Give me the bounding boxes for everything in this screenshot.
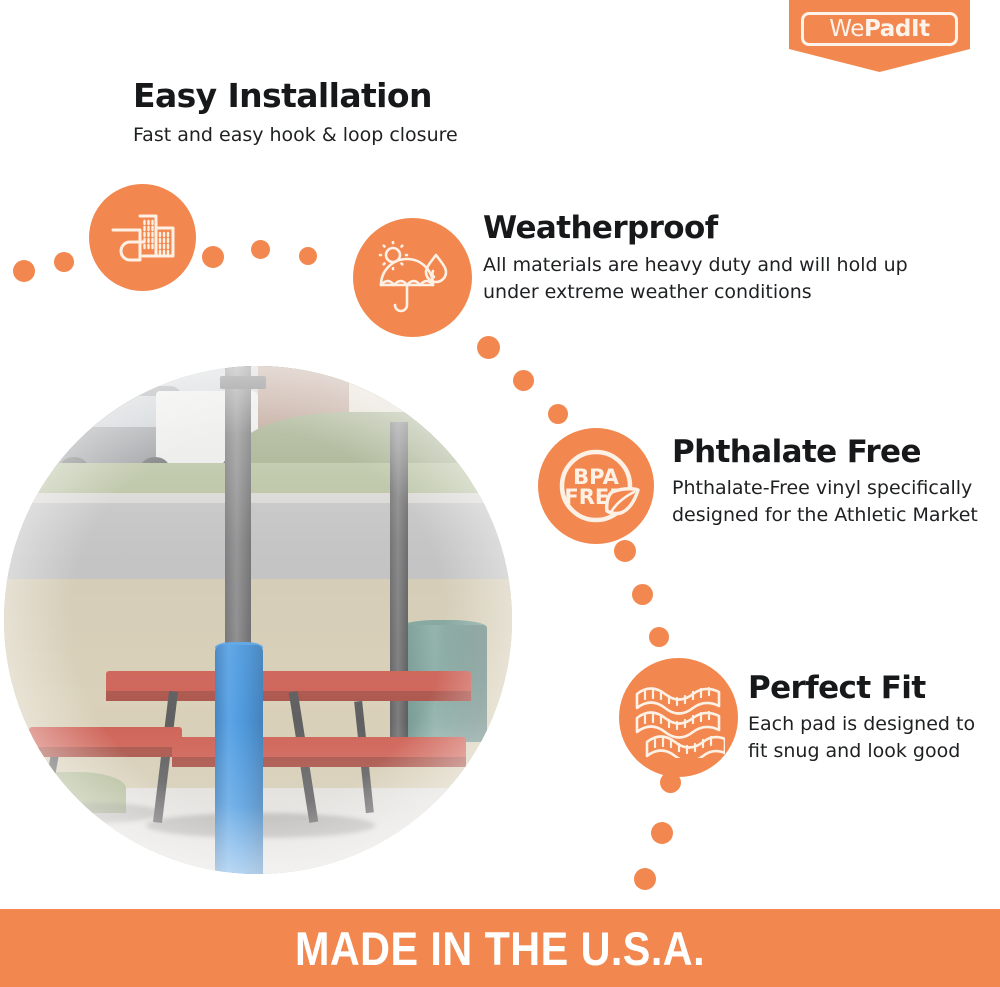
- photo-main-pole: [225, 366, 251, 656]
- feature-description: All materials are heavy duty and will ho…: [483, 252, 913, 306]
- path-dot: [660, 772, 681, 793]
- path-dot: [634, 868, 656, 890]
- path-dot: [614, 540, 636, 562]
- measuring-tape-icon: [619, 658, 738, 777]
- path-dot: [13, 260, 35, 282]
- photo-suv-windows: [60, 396, 162, 426]
- brand-logo[interactable]: WePadIt: [789, 0, 970, 72]
- path-dot: [299, 247, 317, 265]
- product-photo: [4, 366, 512, 874]
- logo-outline-box: WePadIt: [801, 12, 958, 46]
- made-in-usa-text: MADE IN THE U.S.A.: [295, 921, 705, 976]
- feature-title: Perfect Fit: [748, 672, 988, 705]
- path-dot: [54, 252, 74, 272]
- photo-blue-pole-pad: [215, 645, 263, 874]
- made-in-usa-banner: MADE IN THE U.S.A.: [0, 909, 1000, 987]
- logo-word-it: It: [911, 16, 930, 42]
- logo-word-pad: Pad: [864, 16, 911, 42]
- photo-bench-left-edge: [29, 747, 181, 757]
- path-dot: [649, 627, 669, 647]
- path-dot: [632, 584, 653, 605]
- feature-description: Phthalate-Free vinyl specifically design…: [672, 475, 982, 529]
- feature-description: Fast and easy hook & loop closure: [133, 122, 553, 149]
- path-dot: [251, 240, 270, 259]
- logo-word-we: We: [829, 16, 864, 42]
- feature-perfect-fit: Perfect Fit Each pad is designed to fit …: [748, 672, 988, 765]
- feature-description: Each pad is designed to fit snug and loo…: [748, 711, 988, 765]
- feature-title: Phthalate Free: [672, 436, 982, 469]
- path-dot: [513, 370, 534, 391]
- feature-phthalate-free: Phthalate Free Phthalate-Free vinyl spec…: [672, 436, 982, 529]
- path-dot: [651, 822, 673, 844]
- hook-and-loop-strip-icon: [89, 184, 196, 291]
- bpa-free-leaf-icon: BPA FREE: [538, 428, 654, 544]
- logo-wordmark: WePadIt: [829, 18, 930, 41]
- feature-title: Weatherproof: [483, 212, 913, 245]
- photo-road: [4, 503, 512, 579]
- product-infographic: WePadIt Easy Installation Fast and easy …: [0, 0, 1000, 987]
- path-dot: [477, 336, 500, 359]
- feature-easy-installation: Easy Installation Fast and easy hook & l…: [133, 78, 553, 149]
- feature-title: Easy Installation: [133, 78, 553, 114]
- path-dot: [548, 404, 568, 424]
- feature-weatherproof: Weatherproof All materials are heavy dut…: [483, 212, 913, 306]
- umbrella-sun-raindrop-icon: [353, 218, 472, 337]
- path-dot: [202, 246, 224, 268]
- photo-pole-bracket: [220, 376, 266, 389]
